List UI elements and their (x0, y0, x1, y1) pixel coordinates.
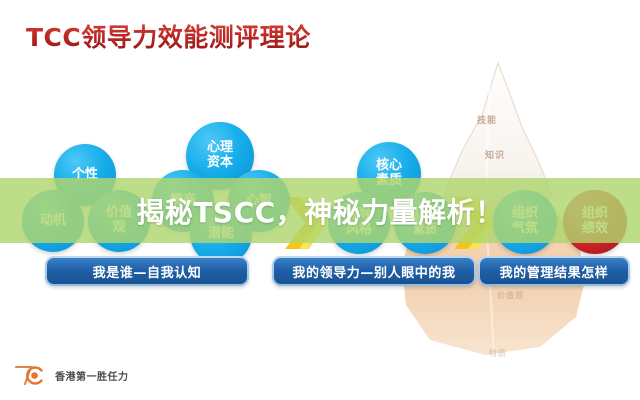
iceberg-label-values: 价值观 (497, 290, 524, 301)
bottom-bar-self-awareness[interactable]: 我是谁—自我认知 (45, 256, 249, 286)
bubble-label: 核心 (376, 159, 402, 174)
bottom-bar-label: 我是谁—自我认知 (47, 258, 247, 284)
iceberg-label-knowledge: 知识 (485, 148, 505, 161)
slide-canvas: TCC领导力效能测评理论 技能 知识 价值观 特质 (0, 0, 640, 400)
brand-logo: 香港第一胜任力 (14, 362, 129, 388)
headline-text: 揭秘TSCC，神秘力量解析！ (0, 178, 640, 243)
bottom-bar-results[interactable]: 我的管理结果怎样 (478, 256, 630, 286)
iceberg-label-skill: 技能 (477, 113, 497, 126)
logo-mark-icon (14, 362, 48, 388)
bubble-label: 心理 (207, 141, 233, 156)
bubble-label: 资本 (207, 156, 233, 171)
logo-tagline: 香港第一胜任力 (55, 368, 129, 383)
bottom-bar-label: 我的领导力—别人眼中的我 (274, 258, 474, 284)
bottom-bar-label: 我的管理结果怎样 (480, 258, 628, 284)
bottom-bar-leadership[interactable]: 我的领导力—别人眼中的我 (272, 256, 476, 286)
iceberg-label-traits: 特质 (489, 348, 507, 359)
page-title: TCC领导力效能测评理论 (26, 18, 311, 54)
